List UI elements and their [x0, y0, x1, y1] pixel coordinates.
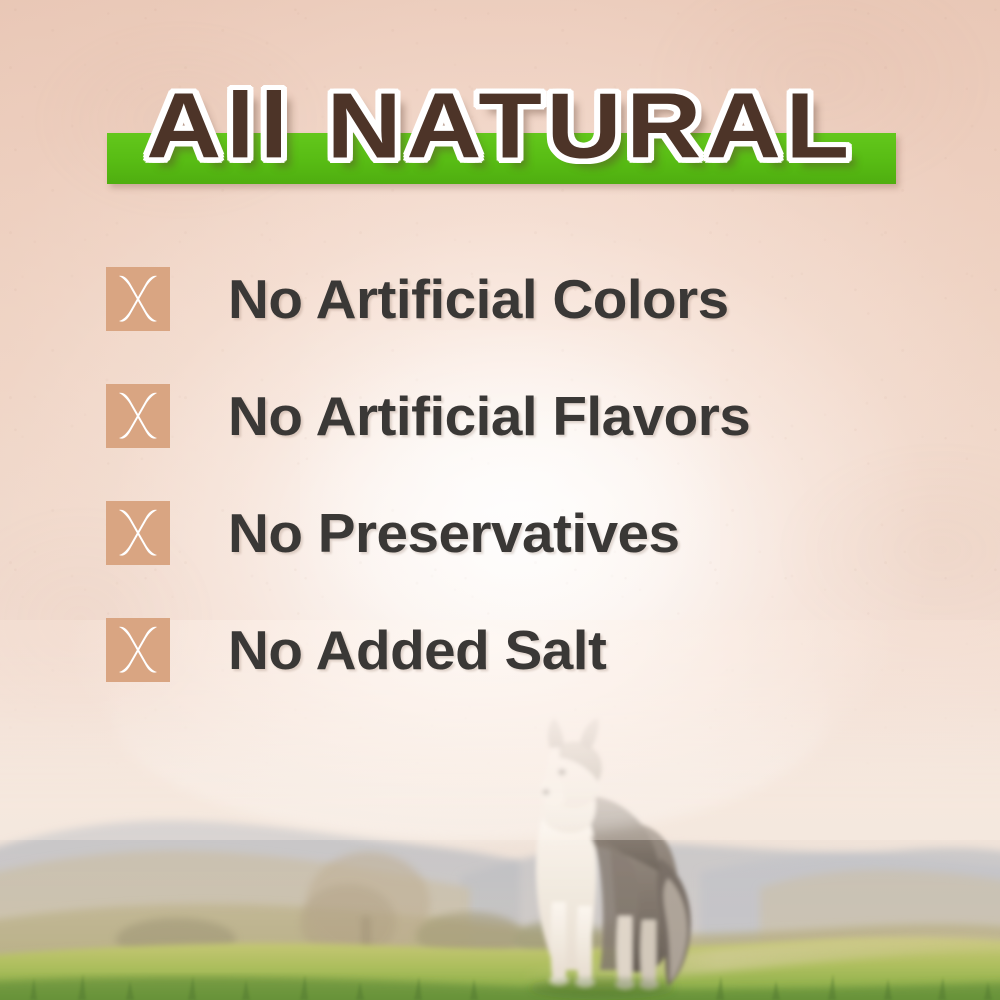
- list-item: No Added Salt: [106, 613, 926, 687]
- landscape-photo: [0, 640, 1000, 1000]
- page-title: All NATURAL: [0, 76, 1000, 177]
- list-item: No Preservatives: [106, 496, 926, 570]
- feature-list: No Artificial Colors No Artificial Flavo…: [106, 262, 926, 687]
- x-mark-icon: [106, 501, 170, 565]
- product-feature-graphic: All NATURAL No Artificial Colors No Arti…: [0, 0, 1000, 1000]
- list-item: No Artificial Flavors: [106, 379, 926, 453]
- feature-label: No Preservatives: [228, 506, 680, 561]
- feature-label: No Added Salt: [228, 623, 606, 678]
- feature-label: No Artificial Flavors: [228, 389, 750, 444]
- list-item: No Artificial Colors: [106, 262, 926, 336]
- feature-label: No Artificial Colors: [228, 272, 729, 327]
- x-mark-icon: [106, 267, 170, 331]
- x-mark-icon: [106, 618, 170, 682]
- x-mark-icon: [106, 384, 170, 448]
